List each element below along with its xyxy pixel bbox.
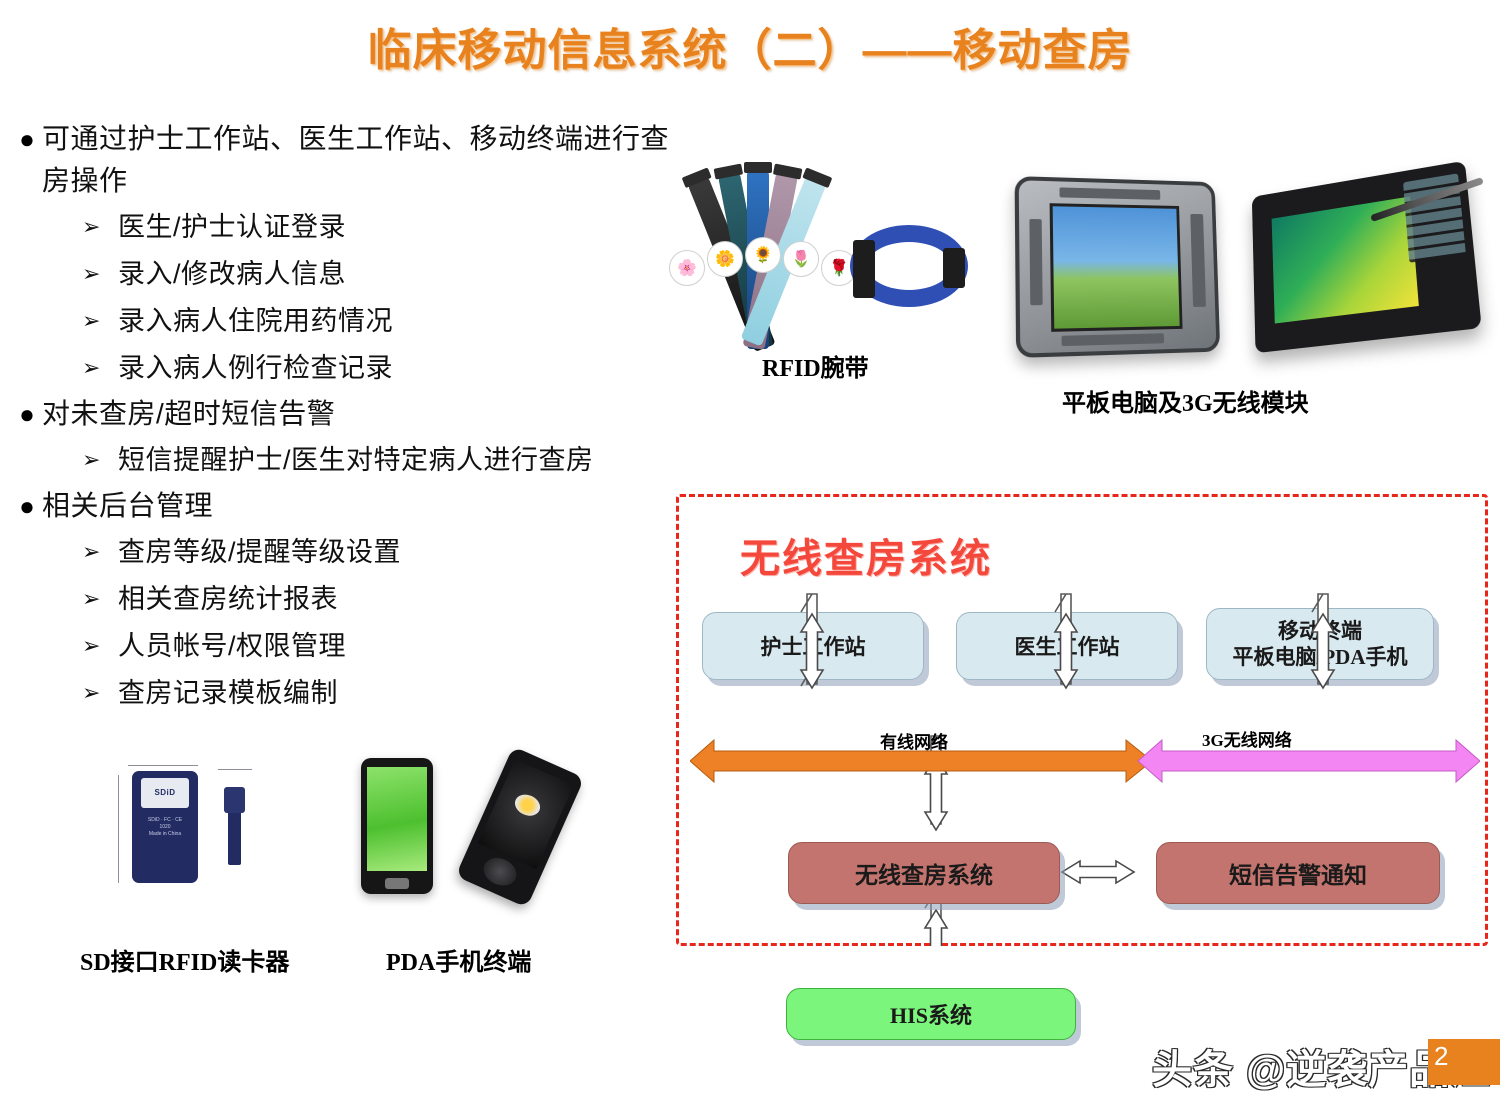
node-label: 短信告警通知 — [1229, 856, 1367, 890]
sub-bullet-text: 录入病人住院用药情况 — [118, 299, 393, 343]
flower-medallion-icon: 🌷 — [783, 241, 819, 277]
tablet-screen — [1050, 203, 1183, 332]
sub-bullet-text: 短信提醒护士/医生对特定病人进行查房 — [118, 438, 594, 482]
bullet-dot-icon: ● — [12, 485, 42, 527]
bullet-item: ● 对未查房/超时短信告警 — [12, 393, 692, 435]
sd-reader-body: SDiD SDiD · FC · CE1020Made in China — [132, 771, 198, 883]
network-label-3g: 3G无线网络 — [1202, 726, 1292, 751]
photo-caption-tablet: 平板电脑及3G无线模块 — [1062, 383, 1309, 418]
diagram-node-doctor-station[interactable]: 医生工作站 — [956, 612, 1178, 680]
diagram-node-wireless-rounds[interactable]: 无线查房系统 — [788, 842, 1060, 904]
sub-bullet-text: 人员帐号/权限管理 — [118, 624, 346, 668]
sub-bullet-text: 录入病人例行检查记录 — [118, 346, 393, 390]
tablet-3g-image — [1012, 172, 1482, 362]
diagram-node-his[interactable]: HIS系统 — [786, 988, 1076, 1040]
flower-medallion-icon: 🌻 — [745, 237, 781, 273]
sub-bullet-item: ➢ 相关查房统计报表 — [82, 577, 692, 621]
htc-touch-phone — [455, 746, 584, 907]
arrow-bullet-icon: ➢ — [82, 346, 118, 390]
sub-bullet-item: ➢ 人员帐号/权限管理 — [82, 624, 692, 668]
sd-reader-fineprint: SDiD · FC · CE1020Made in China — [138, 817, 192, 838]
bullet-text: 对未查房/超时短信告警 — [42, 393, 335, 435]
bullet-dot-icon: ● — [12, 393, 42, 435]
velcro-wristband — [850, 225, 968, 307]
page-number-badge: 2 — [1428, 1039, 1500, 1085]
flower-medallion-icon: 🌸 — [669, 250, 705, 286]
pda-phone-image — [355, 752, 595, 902]
windows-mobile-phone — [361, 758, 433, 894]
bullet-text: 相关后台管理 — [42, 485, 213, 527]
rfid-wristbands-image: 🌸 🌼 🌻 🌷 🌹 — [635, 165, 975, 350]
arrow-bullet-icon: ➢ — [82, 671, 118, 715]
page-title: 临床移动信息系统（二）——移动查房 — [0, 14, 1500, 78]
sub-bullet-text: 录入/修改病人信息 — [118, 252, 346, 296]
sd-card-antenna — [228, 787, 241, 865]
phone-screen — [367, 767, 427, 871]
arrow-bullet-icon: ➢ — [82, 577, 118, 621]
bullet-item: ● 可通过护士工作站、医生工作站、移动终端进行查房操作 — [12, 118, 692, 202]
sub-bullet-item: ➢ 查房记录模板编制 — [82, 671, 692, 715]
sub-bullet-text: 医生/护士认证登录 — [118, 205, 346, 249]
bullet-list: ● 可通过护士工作站、医生工作站、移动终端进行查房操作 ➢ 医生/护士认证登录 … — [12, 118, 692, 718]
sub-bullet-text: 查房记录模板编制 — [118, 671, 338, 715]
phone-home-button — [385, 878, 409, 889]
sub-bullet-item: ➢ 短信提醒护士/医生对特定病人进行查房 — [82, 438, 692, 482]
sub-bullet-item: ➢ 医生/护士认证登录 — [82, 205, 692, 249]
photo-caption-pda: PDA手机终端 — [386, 942, 531, 977]
photo-caption-rfid: RFID腕带 — [762, 348, 869, 383]
node-label-line1: 移动终端 — [1278, 618, 1362, 644]
arrow-bullet-icon: ➢ — [82, 252, 118, 296]
arrow-bullet-icon: ➢ — [82, 530, 118, 574]
sub-bullet-item: ➢ 查房等级/提醒等级设置 — [82, 530, 692, 574]
arrow-bullet-icon: ➢ — [82, 205, 118, 249]
bullet-dot-icon: ● — [12, 118, 42, 160]
sdid-logo: SDiD — [141, 778, 189, 808]
diagram-node-mobile-terminal[interactable]: 移动终端 平板电脑/PDA手机 — [1206, 608, 1434, 680]
arrow-bullet-icon: ➢ — [82, 438, 118, 482]
flower-medallion-icon: 🌼 — [707, 241, 743, 277]
arrow-bullet-icon: ➢ — [82, 624, 118, 668]
diagram-node-nurse-station[interactable]: 护士工作站 — [702, 612, 924, 680]
sub-bullet-item: ➢ 录入病人住院用药情况 — [82, 299, 692, 343]
node-label: 无线查房系统 — [855, 856, 993, 890]
tablet-screen — [1272, 196, 1419, 323]
arrow-bullet-icon: ➢ — [82, 299, 118, 343]
node-label-line2: 平板电脑/PDA手机 — [1233, 644, 1408, 670]
bullet-text: 可通过护士工作站、医生工作站、移动终端进行查房操作 — [42, 118, 692, 202]
sd-rfid-reader-image: SDiD SDiD · FC · CE1020Made in China — [118, 765, 268, 895]
node-label: HIS系统 — [890, 998, 972, 1030]
network-label-wired: 有线网络 — [880, 728, 948, 753]
sub-bullet-text: 查房等级/提醒等级设置 — [118, 530, 401, 574]
bullet-item: ● 相关后台管理 — [12, 485, 692, 527]
photo-caption-sd-reader: SD接口RFID读卡器 — [80, 942, 289, 977]
rugged-tablet — [1015, 176, 1221, 358]
sub-bullet-item: ➢ 录入病人例行检查记录 — [82, 346, 692, 390]
diagram-title: 无线查房系统 — [740, 526, 992, 584]
sub-bullet-text: 相关查房统计报表 — [118, 577, 338, 621]
node-label: 护士工作站 — [761, 631, 866, 661]
node-label: 医生工作站 — [1015, 631, 1120, 661]
sub-bullet-item: ➢ 录入/修改病人信息 — [82, 252, 692, 296]
diagram-node-sms-alert[interactable]: 短信告警通知 — [1156, 842, 1440, 904]
